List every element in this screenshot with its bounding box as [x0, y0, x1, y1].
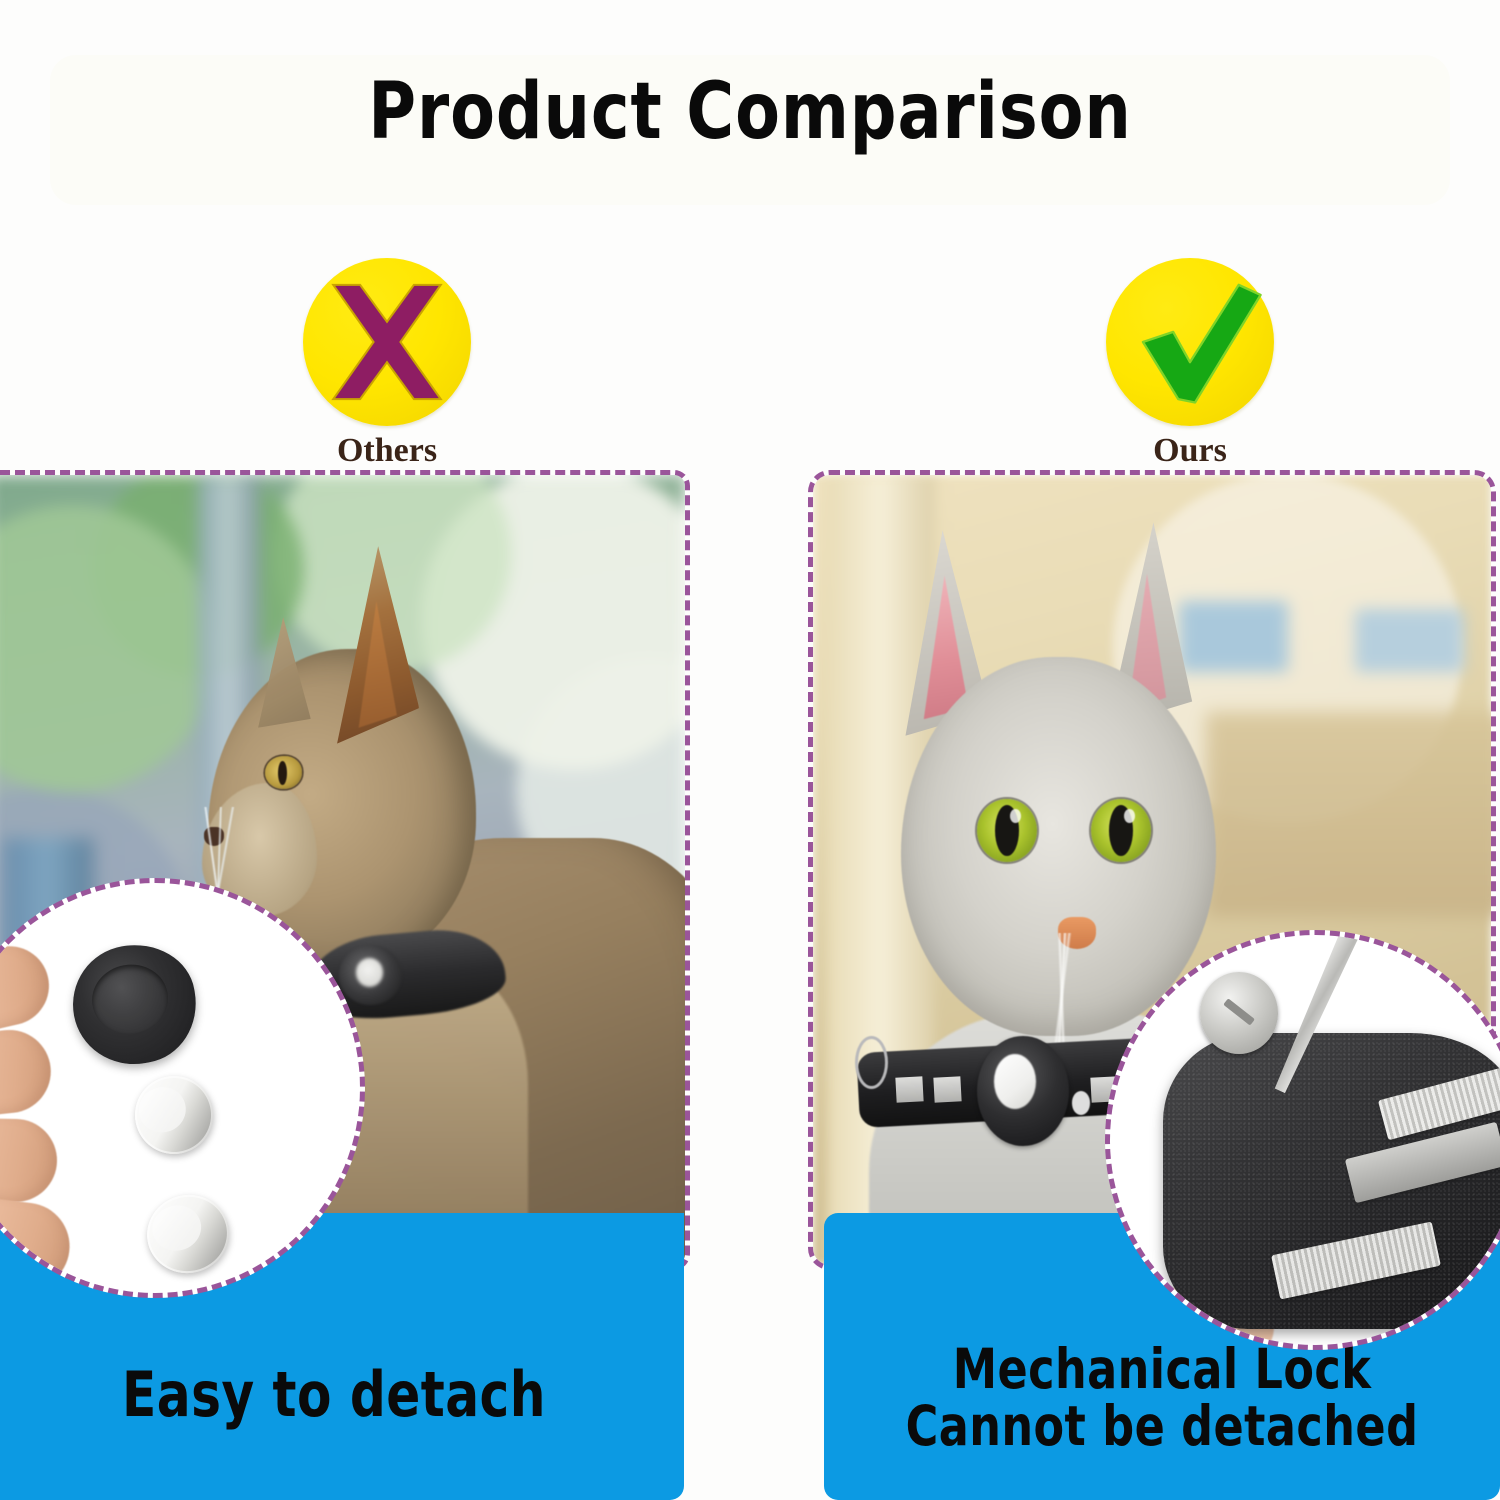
caption-ours: Mechanical Lock Cannot be detached [858, 1341, 1466, 1454]
caption-others-line-1: Easy to detach [19, 1363, 649, 1427]
badge-label-others: Others [287, 432, 487, 470]
cut-off-top-text [0, 0, 1500, 2]
mechanical-lock-screw [1200, 972, 1278, 1054]
badge-circle-others [303, 258, 471, 426]
check-mark-icon [1106, 258, 1274, 426]
badge-circle-ours [1106, 258, 1274, 426]
caption-ours-line-2: Cannot be detached [858, 1398, 1466, 1455]
cat-eye [265, 756, 302, 789]
infographic-stage: Product Comparison Others Ours [0, 0, 1500, 1500]
caption-ours-line-1: Mechanical Lock [858, 1341, 1466, 1398]
cat-eye-left [977, 799, 1037, 862]
collar-d-ring [855, 1036, 888, 1089]
badge-ours: Ours [1090, 258, 1290, 470]
badge-label-ours: Ours [1090, 432, 1290, 470]
finger [0, 1116, 58, 1202]
airtag-holder-on-collar [977, 1036, 1069, 1147]
collar-reflective-strip [895, 1076, 923, 1103]
x-mark-icon [303, 258, 471, 426]
finger [0, 1184, 74, 1294]
airtag-holder-on-collar [339, 945, 402, 1005]
collar-reflective-strip [933, 1076, 961, 1103]
cat-eye-right [1091, 799, 1151, 862]
badge-others: Others [287, 258, 487, 470]
finger [0, 1026, 55, 1127]
detail-inset-ours [1105, 930, 1500, 1350]
page-title: Product Comparison [53, 72, 1448, 154]
